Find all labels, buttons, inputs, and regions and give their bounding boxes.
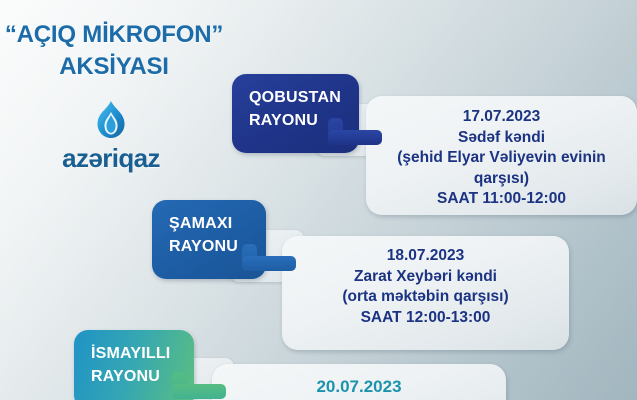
event-time-2: SAAT 12:00-13:00 — [292, 308, 559, 329]
poster-canvas: “AÇIQ MİKROFON” AKSİYASI azəriqaz 17.07.… — [0, 0, 637, 400]
flame-icon — [94, 100, 128, 140]
page-title-line-2: AKSİYASI — [0, 52, 228, 83]
event-place-1: (şehid Elyar Vəliyevin evinin — [376, 148, 627, 169]
region-badge-qobustan-line-1: QOBUSTAN — [249, 87, 343, 110]
region-badge-ismayilli-line-2: RAYONU — [91, 366, 178, 389]
event-card-2: 18.07.2023 Zarat Xeybəri kəndi (orta mək… — [282, 236, 569, 350]
event-date-2: 18.07.2023 — [292, 246, 559, 267]
region-badge-shamaxi-line-1: ŞAMAXI — [169, 213, 250, 236]
event-time-1: SAAT 11:00-12:00 — [376, 189, 627, 210]
event-place-2: (orta məktəbin qarşısı) — [292, 287, 559, 308]
page-title-line-1: “AÇIQ MİKROFON” — [0, 20, 228, 51]
region-badge-shamaxi-line-2: RAYONU — [169, 236, 250, 259]
event-place-1-cont: qarşısı) — [376, 169, 627, 190]
connector-hook-3-horizontal — [172, 384, 226, 399]
event-village-2: Zarat Xeybəri kəndi — [292, 267, 559, 288]
event-village-1: Sədəf kəndi — [376, 128, 627, 149]
region-badge-ismayilli-line-1: İSMAYILLI — [91, 343, 178, 366]
connector-hook-2-horizontal — [242, 256, 296, 271]
brand-wordmark: azəriqaz — [0, 143, 222, 174]
event-card-1: 17.07.2023 Sədəf kəndi (şehid Elyar Vəli… — [366, 96, 637, 215]
page-title: “AÇIQ MİKROFON” AKSİYASI — [0, 20, 228, 82]
brand-logo: azəriqaz — [0, 100, 222, 174]
event-date-3: 20.07.2023 — [222, 376, 496, 399]
connector-hook-1-horizontal — [328, 130, 382, 145]
event-date-1: 17.07.2023 — [376, 107, 627, 128]
event-card-3: 20.07.2023 — [212, 364, 506, 400]
